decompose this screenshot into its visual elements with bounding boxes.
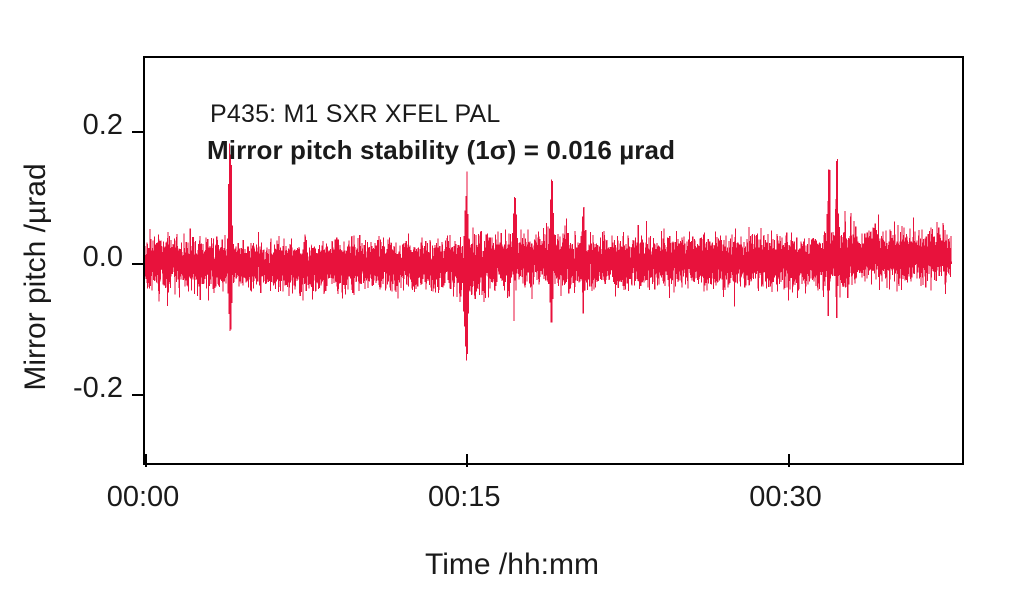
x-axis-tick-label: 00:30 bbox=[696, 481, 876, 514]
plot-area: P435: M1 SXR XFEL PAL Mirror pitch stabi… bbox=[143, 56, 964, 465]
y-axis-tick-label: 0.0 bbox=[0, 241, 123, 274]
x-axis-tick-label: 00:15 bbox=[374, 481, 554, 514]
annotation-dataset-label: P435: M1 SXR XFEL PAL bbox=[210, 100, 500, 129]
y-axis-tick bbox=[132, 263, 145, 265]
y-axis-tick-label: 0.2 bbox=[0, 109, 123, 142]
y-axis-title: Mirror pitch /µrad bbox=[19, 27, 53, 527]
x-axis-tick-label: 00:00 bbox=[53, 481, 233, 514]
y-axis-tick bbox=[132, 394, 145, 396]
x-axis-tick bbox=[145, 454, 147, 467]
x-axis-tick bbox=[466, 454, 468, 467]
x-axis-tick bbox=[788, 454, 790, 467]
annotation-stability-value: Mirror pitch stability (1σ) = 0.016 µrad bbox=[207, 135, 675, 166]
x-axis-title: Time /hh:mm bbox=[0, 548, 1024, 582]
mirror-pitch-trace bbox=[145, 144, 951, 361]
figure-container: Mirror pitch /µrad P435: M1 SXR XFEL PAL… bbox=[0, 0, 1024, 589]
y-axis-tick bbox=[132, 131, 145, 133]
y-axis-tick-label: -0.2 bbox=[0, 372, 123, 405]
